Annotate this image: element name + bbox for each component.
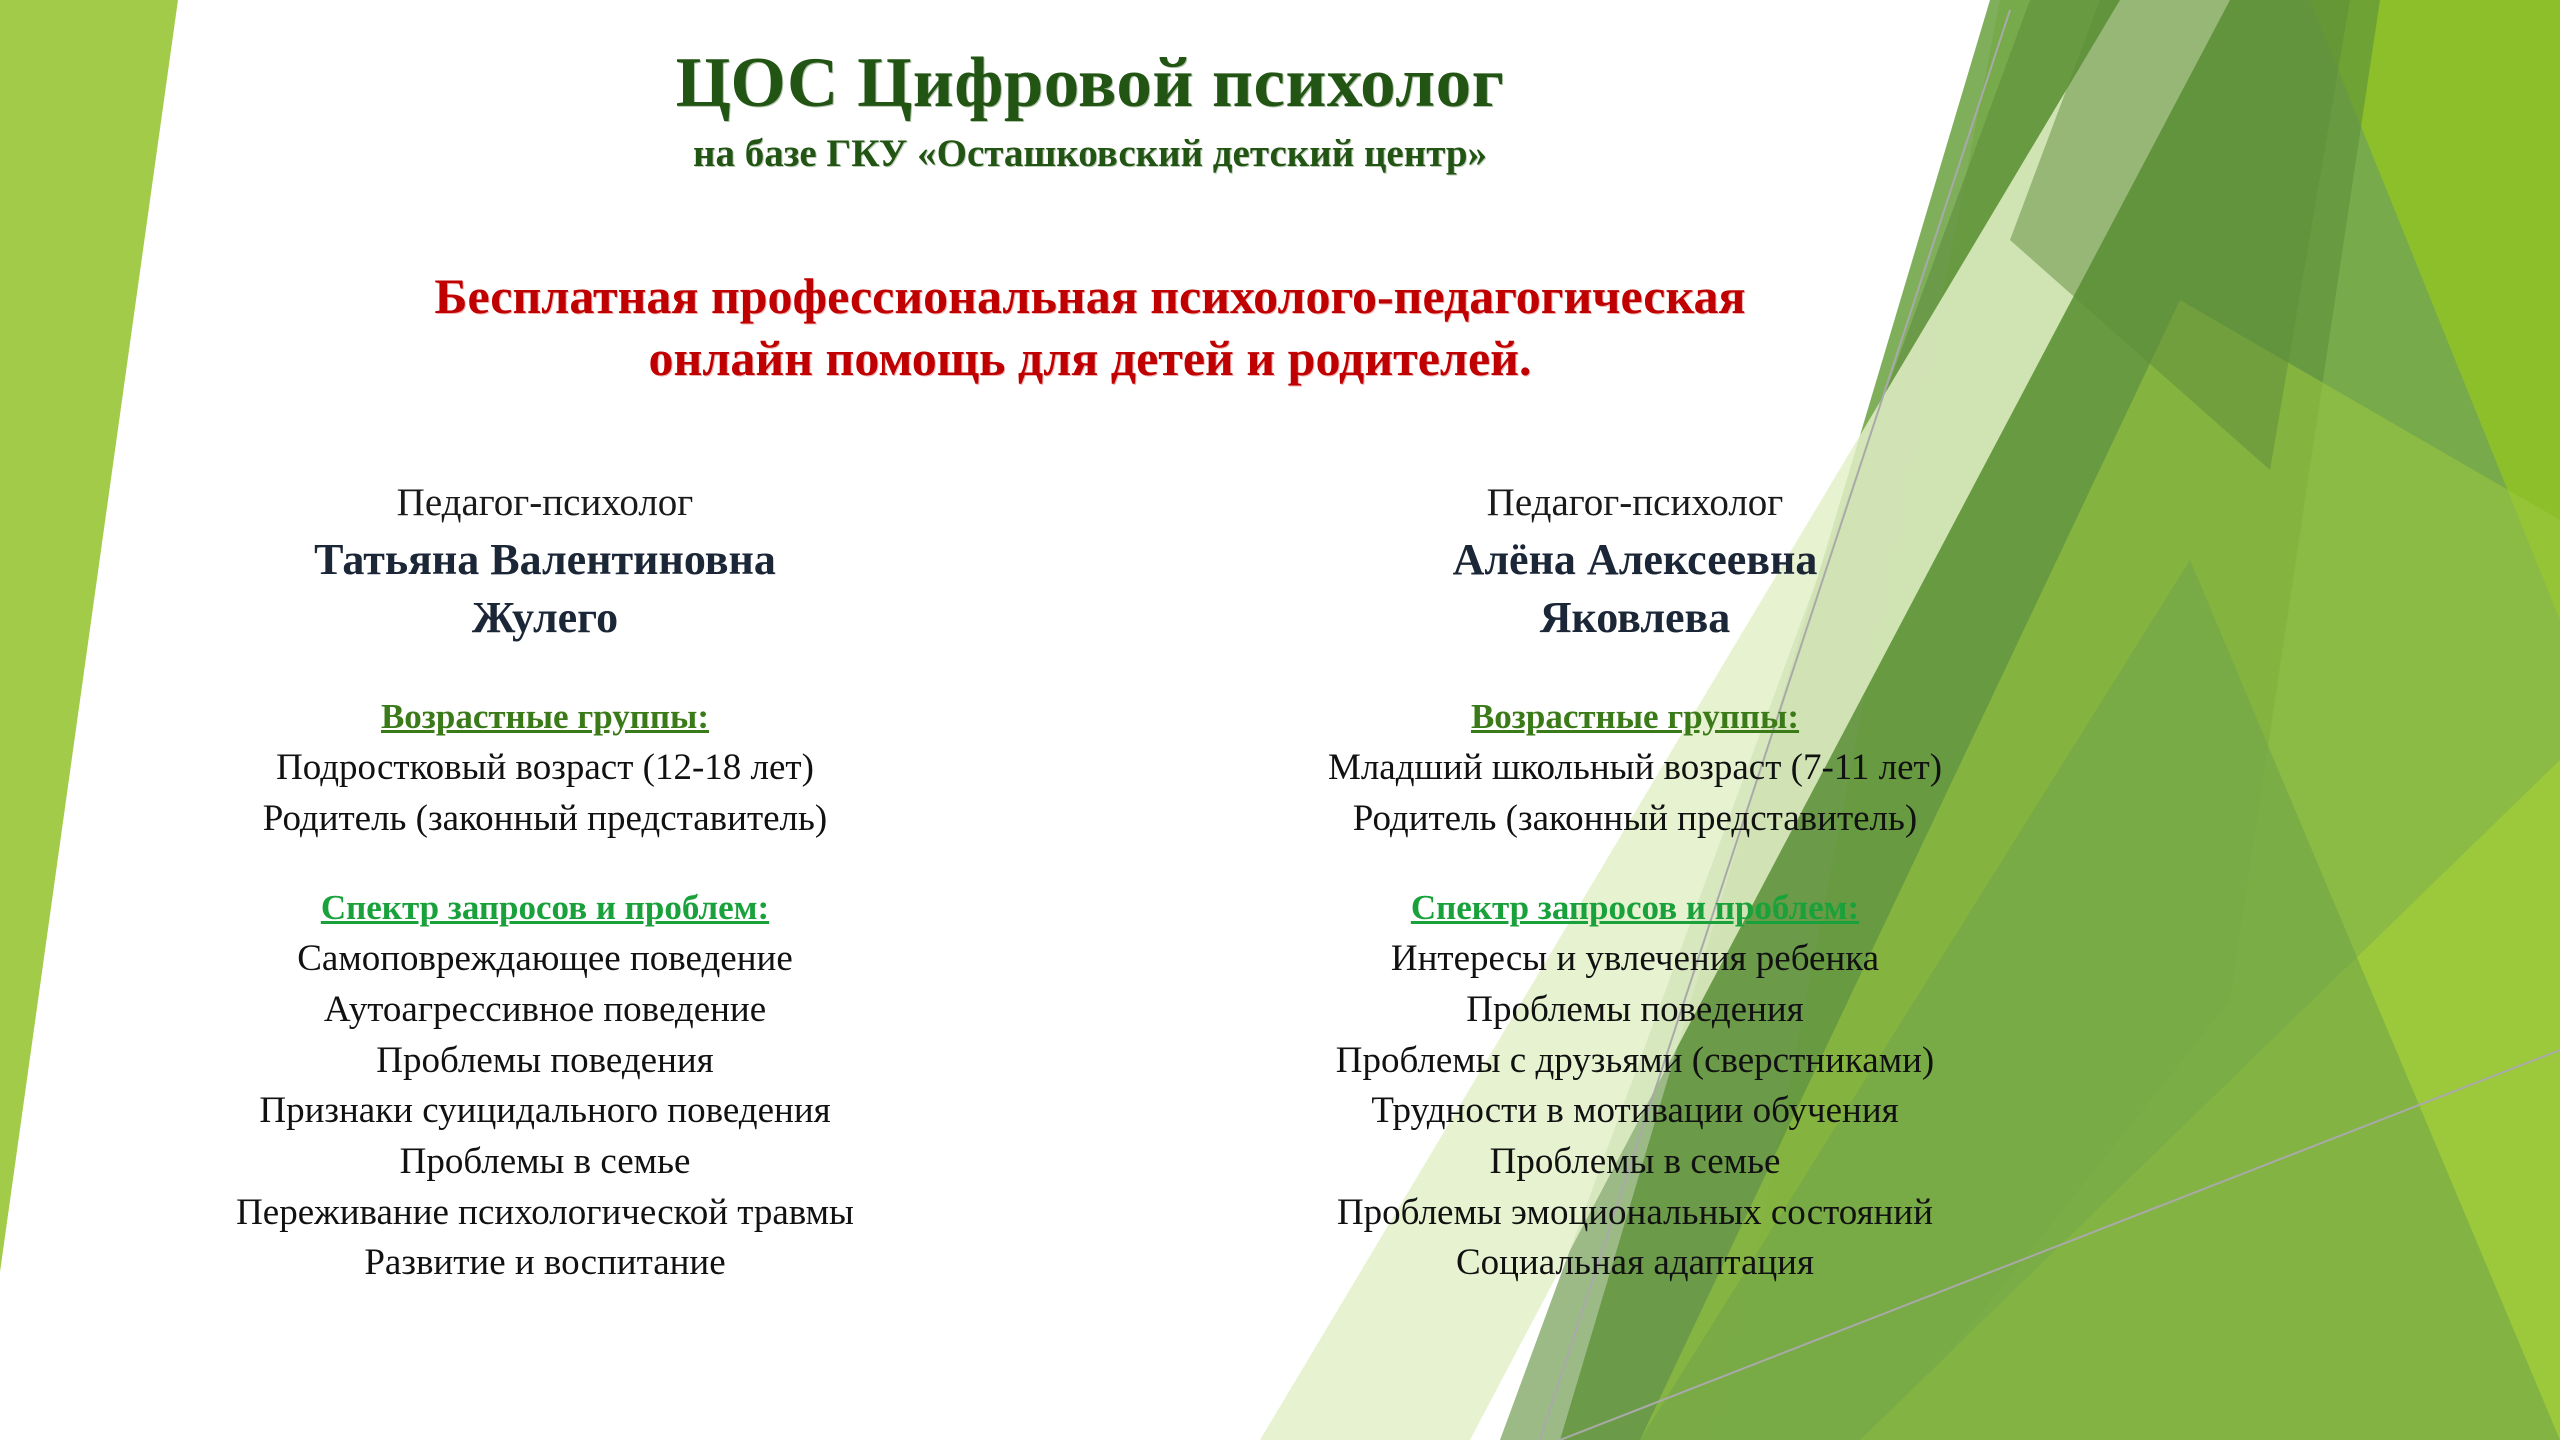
scope-item: Проблемы эмоциональных состояний [1120,1188,2150,1239]
age-group-item: Подростковый возраст (12-18 лет) [30,743,1060,794]
psychologist-column-left: Педагог-психолог Татьяна Валентиновна Жу… [0,480,1090,1289]
age-groups-heading-left: Возрастные группы: [30,694,1060,740]
scope-heading-left: Спектр запросов и проблем: [30,885,1060,931]
scope-item: Аутоагрессивное поведение [30,985,1060,1036]
page-subtitle: на базе ГКУ «Осташковский детский центр» [0,133,2180,176]
age-group-item: Родитель (законный представитель) [1120,794,2150,845]
scope-item: Самоповреждающее поведение [30,934,1060,985]
page-title: ЦОС Цифровой психолог [0,46,2180,121]
psychologist-column-right: Педагог-психолог Алёна Алексеевна Яковле… [1090,480,2180,1289]
person-name-left-line1: Татьяна Валентиновна [30,533,1060,588]
scope-item: Социальная адаптация [1120,1238,2150,1289]
role-label-left: Педагог-психолог [30,480,1060,527]
scope-item: Переживание психологической травмы [30,1188,1060,1239]
role-label-right: Педагог-психолог [1120,480,2150,527]
psychologist-columns: Педагог-психолог Татьяна Валентиновна Жу… [0,480,2180,1289]
scope-item: Интересы и увлечения ребенка [1120,934,2150,985]
age-groups-heading-right: Возрастные группы: [1120,694,2150,740]
title-block: ЦОС Цифровой психолог на базе ГКУ «Осташ… [0,46,2180,176]
scope-item: Проблемы в семье [30,1137,1060,1188]
scope-heading-right: Спектр запросов и проблем: [1120,885,2150,931]
person-name-right-line1: Алёна Алексеевна [1120,533,2150,588]
scope-item: Проблемы в семье [1120,1137,2150,1188]
scope-item: Проблемы поведения [30,1036,1060,1087]
age-group-item: Младший школьный возраст (7-11 лет) [1120,743,2150,794]
scope-item: Проблемы поведения [1120,985,2150,1036]
red-heading-line-2: онлайн помощь для детей и родителей. [0,327,2180,389]
red-heading-line-1: Бесплатная профессиональная психолого-пе… [0,265,2180,327]
person-name-left-line2: Жулего [30,591,1060,646]
red-heading: Бесплатная профессиональная психолого-пе… [0,265,2180,389]
scope-item: Проблемы с друзьями (сверстниками) [1120,1036,2150,1087]
scope-item: Признаки суицидального поведения [30,1086,1060,1137]
scope-item: Трудности в мотивации обучения [1120,1086,2150,1137]
scope-item: Развитие и воспитание [30,1238,1060,1289]
presentation-slide: ЦОС Цифровой психолог на базе ГКУ «Осташ… [0,0,2560,1440]
person-name-right-line2: Яковлева [1120,591,2150,646]
age-group-item: Родитель (законный представитель) [30,794,1060,845]
